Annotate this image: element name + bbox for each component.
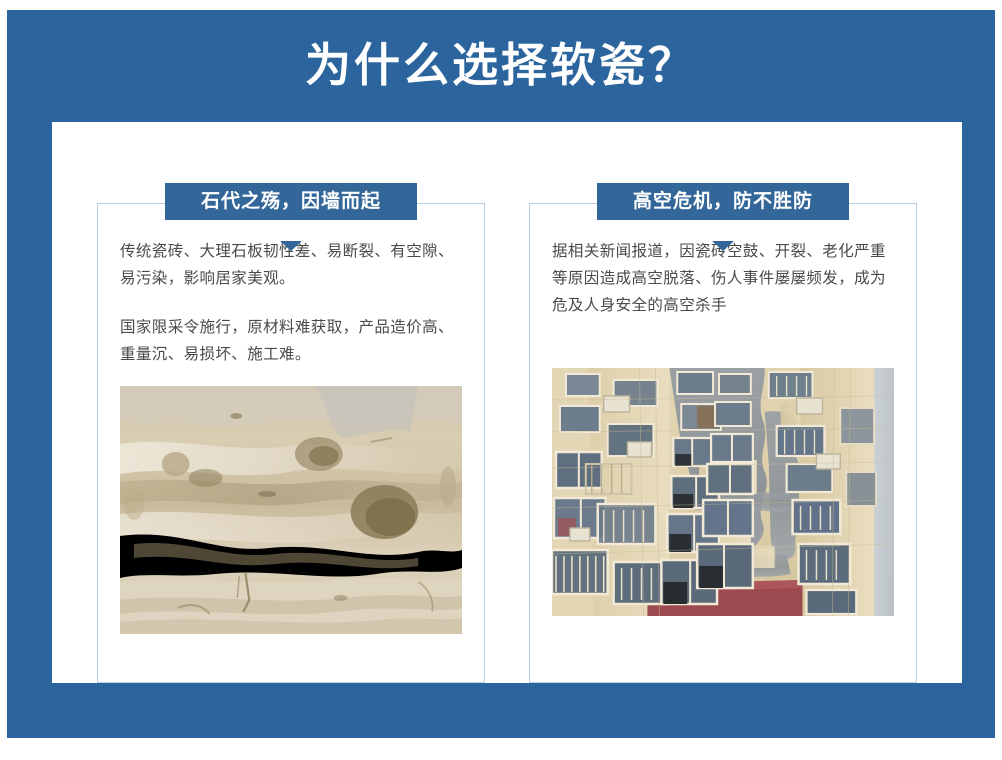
building-facade-tile-falling-photo — [552, 368, 894, 616]
panel-left-photo-wrap — [120, 386, 462, 634]
panel-right-photo-wrap — [552, 368, 894, 616]
page-title: 为什么选择软瓷？ — [7, 37, 995, 93]
panel-tab-left-label: 石代之殇，因墙而起 — [201, 191, 381, 212]
promo-banner: 为什么选择软瓷？ 石代之殇，因墙而起 传统瓷砖、大理石板韧性差、易断裂、有空隙、… — [7, 10, 995, 738]
panel-columns: 石代之殇，因墙而起 传统瓷砖、大理石板韧性差、易断裂、有空隙、易污染，影响居家美… — [52, 122, 962, 683]
stone-rock-face-photo — [120, 386, 462, 634]
panel-highrise-danger: 高空危机，防不胜防 据相关新闻报道，因瓷砖空鼓、开裂、老化严重等原因造成高空脱落… — [529, 203, 917, 683]
tab-notch-left-icon — [280, 241, 302, 251]
panel-tab-right-label: 高空危机，防不胜防 — [633, 191, 813, 212]
panel-stone-problems: 石代之殇，因墙而起 传统瓷砖、大理石板韧性差、易断裂、有空隙、易污染，影响居家美… — [97, 203, 485, 683]
panel-left-paragraph-2: 国家限采令施行，原材料难获取，产品造价高、重量沉、易损坏、施工难。 — [120, 314, 462, 368]
panel-tab-right: 高空危机，防不胜防 — [597, 183, 849, 220]
tab-notch-right-icon — [712, 241, 734, 251]
panel-tab-left: 石代之殇，因墙而起 — [165, 183, 417, 220]
content-card: 石代之殇，因墙而起 传统瓷砖、大理石板韧性差、易断裂、有空隙、易污染，影响居家美… — [52, 122, 962, 683]
